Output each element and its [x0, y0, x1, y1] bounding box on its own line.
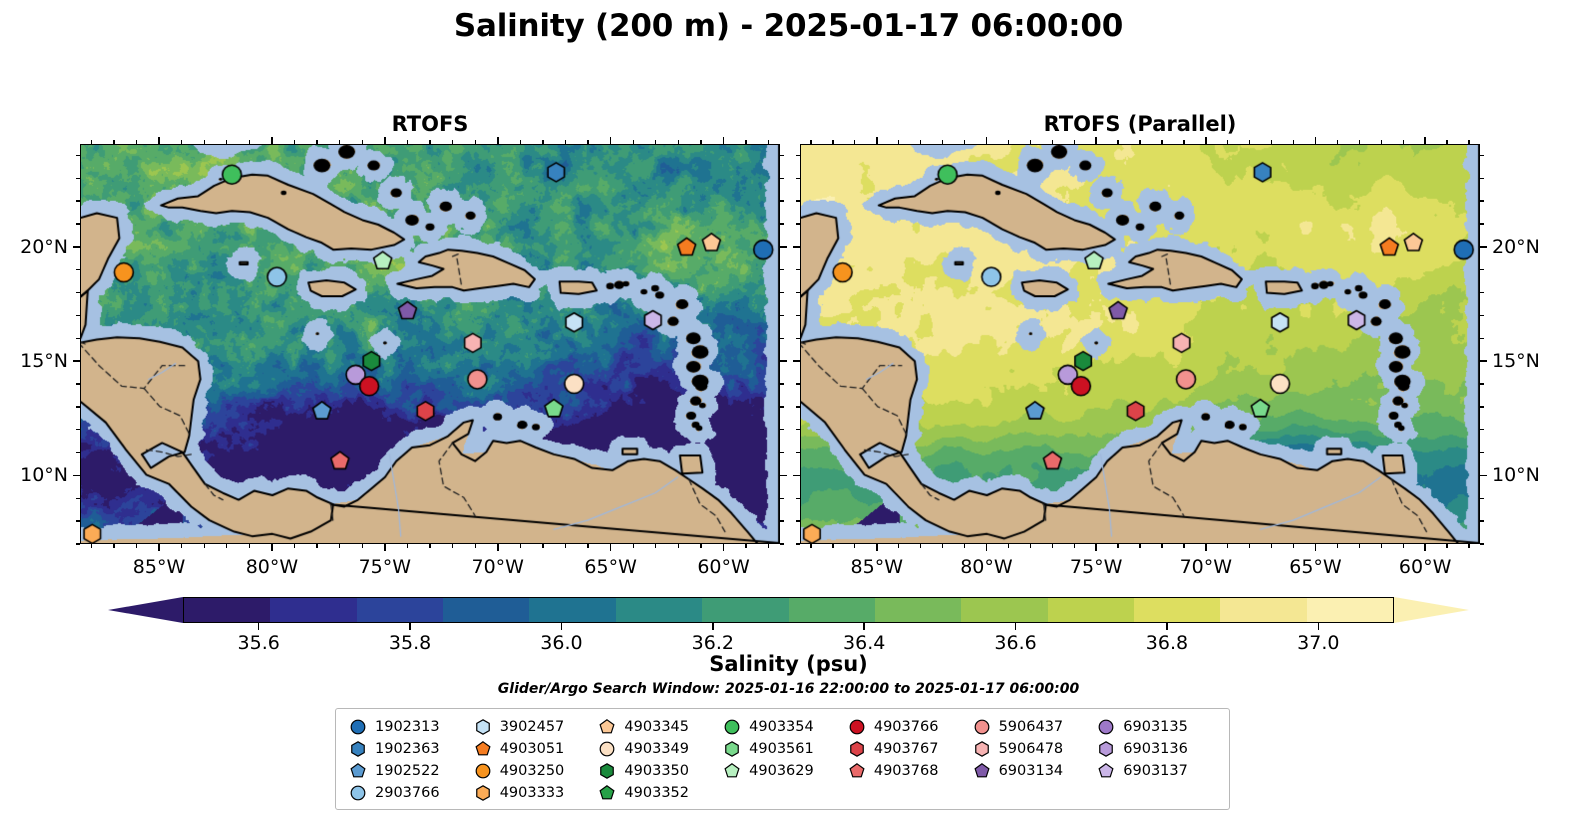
lon-tick	[1139, 544, 1140, 548]
legend-spacer	[970, 782, 1095, 803]
lon-tick-top	[633, 140, 634, 144]
lat-tick-right	[1480, 338, 1484, 339]
lon-tick-top	[1359, 140, 1360, 144]
lat-tick-right	[780, 246, 787, 248]
lon-tick-top	[452, 140, 453, 144]
legend-item-4903349[interactable]: 4903349	[595, 738, 720, 759]
lon-tick-top	[832, 140, 833, 144]
legend-grid: 1902313190236319025222903766390245749030…	[346, 716, 1219, 803]
lat-tick-right	[1480, 543, 1484, 544]
lon-tick	[633, 544, 634, 548]
figure-title: Salinity (200 m) - 2025-01-17 06:00:00	[0, 8, 1577, 44]
marker-pentagon-icon	[1094, 762, 1118, 780]
colorbar-band-0	[184, 598, 270, 622]
legend-item-label: 4903766	[874, 719, 939, 735]
lat-tick-right	[1480, 383, 1484, 384]
lon-tick-top	[1139, 140, 1140, 144]
colorbar-tick-label: 36.0	[540, 632, 582, 654]
legend-item-label: 4903349	[624, 741, 689, 757]
lon-tick	[1227, 544, 1228, 548]
lon-tick-top	[362, 140, 363, 144]
legend-item-label: 5906437	[999, 719, 1064, 735]
lon-tick	[876, 544, 878, 551]
lat-tick-left	[793, 246, 800, 248]
lon-tick-label: 80°W	[960, 556, 1012, 578]
colorbar-tick-label: 36.2	[692, 632, 734, 654]
lat-tick-left	[76, 292, 80, 293]
lon-tick	[475, 544, 476, 548]
lon-tick-top	[610, 137, 612, 144]
lon-tick-top	[876, 137, 878, 144]
colorbar-extend-high	[1394, 597, 1469, 623]
legend-spacer	[720, 782, 845, 803]
lat-tick-left	[796, 520, 800, 521]
lon-tick-top	[1424, 137, 1426, 144]
colorbar-tick-label: 36.4	[843, 632, 885, 654]
lon-tick-top	[1205, 137, 1207, 144]
lon-tick	[429, 544, 430, 548]
marker-pentagon-icon	[471, 740, 495, 758]
lat-tick-left	[76, 223, 80, 224]
lon-tick-top	[136, 140, 137, 144]
marker-hexagon-icon	[471, 718, 495, 736]
lon-tick-top	[942, 140, 943, 144]
legend-item-1902363[interactable]: 1902363	[346, 738, 471, 759]
colorbar-band-12	[1220, 598, 1306, 622]
marker-hexagon-icon	[595, 762, 619, 780]
lat-tick-left	[76, 406, 80, 407]
lat-tick-right	[780, 429, 784, 430]
lon-tick	[113, 544, 114, 548]
lat-tick-label: 10°N	[0, 464, 68, 486]
lat-tick-right	[780, 475, 787, 477]
lon-tick	[407, 544, 408, 548]
colorbar-tick	[409, 623, 411, 630]
lon-tick	[1117, 544, 1118, 548]
lon-tick-top	[384, 137, 386, 144]
lat-tick-right	[1480, 475, 1487, 477]
marker-circle-icon	[346, 718, 370, 736]
lon-tick	[271, 544, 273, 551]
legend-item-label: 6903135	[1123, 719, 1188, 735]
lon-tick-top	[271, 137, 273, 144]
lon-tick-top	[91, 140, 92, 144]
lat-tick-left	[796, 269, 800, 270]
lon-tick	[497, 544, 499, 551]
lat-tick-left	[796, 155, 800, 156]
lon-tick-top	[1183, 140, 1184, 144]
lon-tick	[158, 544, 160, 551]
lon-tick-top	[407, 140, 408, 144]
colorbar-band-7	[789, 598, 875, 622]
lon-tick	[986, 544, 988, 551]
lat-tick-left	[76, 269, 80, 270]
lon-tick	[1205, 544, 1207, 551]
legend-item-2903766[interactable]: 2903766	[346, 782, 471, 803]
legend-item-label: 4903350	[624, 763, 689, 779]
lat-tick-right	[780, 178, 784, 179]
lat-tick-label: 15°N	[1492, 350, 1540, 372]
legend-item-4903561[interactable]: 4903561	[720, 738, 845, 759]
lat-tick-left	[76, 429, 80, 430]
colorbar-tick	[258, 623, 260, 630]
legend-item-label: 6903137	[1123, 763, 1188, 779]
legend-item-4903768[interactable]: 4903768	[845, 760, 970, 781]
lon-tick-top	[1403, 140, 1404, 144]
lon-tick-top	[497, 137, 499, 144]
lat-tick-left	[796, 452, 800, 453]
lon-tick	[542, 544, 543, 548]
lon-tick-label: 70°W	[472, 556, 524, 578]
lon-tick-top	[542, 140, 543, 144]
colorbar-band-9	[961, 598, 1047, 622]
legend-item-label: 2903766	[375, 785, 440, 801]
colorbar-band-8	[875, 598, 961, 622]
lon-tick	[898, 544, 899, 548]
lon-tick-label: 75°W	[359, 556, 411, 578]
lon-tick	[1183, 544, 1184, 548]
lon-tick	[745, 544, 746, 548]
lon-tick	[452, 544, 453, 548]
search-window-text: Glider/Argo Search Window: 2025-01-16 22…	[0, 681, 1577, 697]
legend-item-5906478[interactable]: 5906478	[970, 738, 1095, 759]
lon-tick-top	[1271, 140, 1272, 144]
lat-tick-left	[793, 475, 800, 477]
legend-item-label: 4903345	[624, 719, 689, 735]
lon-tick-top	[854, 140, 855, 144]
lat-tick-right	[1480, 246, 1487, 248]
lon-tick	[610, 544, 612, 551]
lat-tick-left	[76, 520, 80, 521]
lon-tick	[204, 544, 205, 548]
legend-item-label: 4903354	[749, 719, 814, 735]
legend-item-label: 4903768	[874, 763, 939, 779]
colorbar-band-13	[1307, 598, 1393, 622]
lat-tick-left	[796, 223, 800, 224]
lon-tick	[339, 544, 340, 548]
colorbar-tick-label: 35.8	[389, 632, 431, 654]
colorbar-tick	[712, 623, 714, 630]
lon-tick-label: 80°W	[246, 556, 298, 578]
lat-tick-left	[76, 498, 80, 499]
lat-tick-right	[780, 155, 784, 156]
colorbar-band-11	[1134, 598, 1220, 622]
lat-tick-left	[796, 178, 800, 179]
lon-tick	[226, 544, 227, 548]
lat-tick-label: 20°N	[1492, 236, 1540, 258]
colorbar[interactable]: 35.635.836.036.236.436.636.837.0	[107, 597, 1470, 623]
marker-hexagon-icon	[346, 740, 370, 758]
lon-tick	[1446, 544, 1447, 548]
lat-tick-left	[796, 429, 800, 430]
lat-tick-left	[76, 543, 80, 544]
lon-tick-top	[1381, 140, 1382, 144]
lat-tick-right	[1480, 315, 1484, 316]
lat-tick-left	[76, 338, 80, 339]
colorbar-tick	[1166, 623, 1168, 630]
colorbar-tick	[561, 623, 563, 630]
lon-tick	[1315, 544, 1317, 551]
legend-item-6903136[interactable]: 6903136	[1094, 738, 1219, 759]
legend-item-label: 4903629	[749, 763, 814, 779]
lon-tick	[316, 544, 317, 548]
legend-item-label: 6903136	[1123, 741, 1188, 757]
marker-circle-icon	[720, 718, 744, 736]
legend-item-label: 3902457	[500, 719, 565, 735]
lon-tick	[587, 544, 588, 548]
legend-item-label: 4903333	[500, 785, 565, 801]
lon-tick-label: 65°W	[1289, 556, 1341, 578]
lon-tick-top	[475, 140, 476, 144]
lon-tick	[832, 544, 833, 548]
legend-item-label: 6903134	[999, 763, 1064, 779]
lon-tick	[181, 544, 182, 548]
panel-title-rtofs-parallel: RTOFS (Parallel)	[800, 112, 1480, 136]
lat-tick-left	[796, 406, 800, 407]
lon-tick-top	[429, 140, 430, 144]
lon-tick	[1074, 544, 1075, 548]
lon-tick-top	[204, 140, 205, 144]
lat-tick-right	[1480, 360, 1487, 362]
legend-spacer	[1094, 782, 1219, 803]
lat-tick-left	[793, 360, 800, 362]
lat-tick-right	[780, 383, 784, 384]
map-panel-rtofs[interactable]	[80, 144, 780, 544]
legend-item-4903051[interactable]: 4903051	[471, 738, 596, 759]
lon-tick-top	[1161, 140, 1162, 144]
colorbar-band-5	[616, 598, 702, 622]
lat-tick-left	[796, 383, 800, 384]
colorbar-band-3	[443, 598, 529, 622]
lon-tick-top	[1315, 137, 1317, 144]
lon-tick-label: 60°W	[697, 556, 749, 578]
legend-item-4903352[interactable]: 4903352	[595, 782, 720, 803]
lon-tick-top	[181, 140, 182, 144]
legend-item-3902457[interactable]: 3902457	[471, 716, 596, 737]
marker-hexagon-icon	[720, 740, 744, 758]
lon-tick	[1293, 544, 1294, 548]
lon-tick	[1052, 544, 1053, 548]
colorbar-tick	[1318, 623, 1320, 630]
legend-item-label: 1902363	[375, 741, 440, 757]
lon-tick-label: 75°W	[1070, 556, 1122, 578]
lon-tick	[810, 544, 811, 548]
lat-tick-left	[73, 360, 80, 362]
lat-tick-right	[1480, 520, 1484, 521]
marker-circle-icon	[471, 762, 495, 780]
legend-item-4903629[interactable]: 4903629	[720, 760, 845, 781]
lat-tick-right	[780, 543, 784, 544]
lat-tick-right	[780, 498, 784, 499]
lon-tick	[1468, 544, 1469, 548]
lon-tick-top	[1095, 137, 1097, 144]
lon-tick	[942, 544, 943, 548]
lon-tick-top	[723, 137, 725, 144]
lon-tick-top	[158, 137, 160, 144]
legend-item-1902313[interactable]: 1902313	[346, 716, 471, 737]
colorbar-band-6	[702, 598, 788, 622]
lon-tick	[1359, 544, 1360, 548]
legend-item-6903134[interactable]: 6903134	[970, 760, 1095, 781]
legend-item-4903345[interactable]: 4903345	[595, 716, 720, 737]
lat-tick-right	[780, 338, 784, 339]
lon-tick-top	[810, 140, 811, 144]
legend-item-label: 4903352	[624, 785, 689, 801]
lat-tick-right	[1480, 155, 1484, 156]
legend-item-label: 4903767	[874, 741, 939, 757]
lat-tick-right	[1480, 200, 1484, 201]
lat-tick-left	[76, 315, 80, 316]
lon-tick	[565, 544, 566, 548]
lat-tick-left	[796, 315, 800, 316]
legend-item-label: 4903561	[749, 741, 814, 757]
marker-hexagon-icon	[970, 740, 994, 758]
lon-tick-top	[1074, 140, 1075, 144]
lon-tick-top	[1227, 140, 1228, 144]
lon-tick-top	[249, 140, 250, 144]
lon-tick	[1161, 544, 1162, 548]
lon-tick-top	[1008, 140, 1009, 144]
map-panel-rtofs-parallel[interactable]	[800, 144, 1480, 544]
salinity-field-rtofs	[81, 145, 779, 543]
lon-tick	[1008, 544, 1009, 548]
lon-tick-top	[316, 140, 317, 144]
marker-circle-icon	[595, 740, 619, 758]
legend-item-4903250[interactable]: 4903250	[471, 760, 596, 781]
legend-item-4903766[interactable]: 4903766	[845, 716, 970, 737]
legend-item-4903350[interactable]: 4903350	[595, 760, 720, 781]
lat-tick-right	[1480, 406, 1484, 407]
salinity-field-rtofs-parallel	[801, 145, 1479, 543]
lat-tick-right	[780, 223, 784, 224]
colorbar-band-10	[1048, 598, 1134, 622]
colorbar-extend-low	[108, 597, 183, 623]
lon-tick-top	[1468, 140, 1469, 144]
lon-tick	[1030, 544, 1031, 548]
lon-tick-label: 85°W	[851, 556, 903, 578]
lon-tick-top	[1052, 140, 1053, 144]
lon-tick-top	[678, 140, 679, 144]
lon-tick	[1271, 544, 1272, 548]
marker-circle-icon	[1094, 718, 1118, 736]
lat-tick-right	[780, 315, 784, 316]
marker-pentagon-icon	[595, 718, 619, 736]
lon-tick	[294, 544, 295, 548]
legend-item-label: 1902522	[375, 763, 440, 779]
lat-tick-left	[76, 452, 80, 453]
legend-item-4903333[interactable]: 4903333	[471, 782, 596, 803]
lon-tick-top	[1337, 140, 1338, 144]
lat-tick-left	[796, 498, 800, 499]
lon-tick-label: 65°W	[584, 556, 636, 578]
legend-item-4903354[interactable]: 4903354	[720, 716, 845, 737]
lon-tick-top	[768, 140, 769, 144]
marker-circle-icon	[346, 784, 370, 802]
lat-tick-label: 15°N	[0, 350, 68, 372]
marker-circle-icon	[970, 718, 994, 736]
lat-tick-label: 10°N	[1492, 464, 1540, 486]
lat-tick-right	[1480, 452, 1484, 453]
legend-item-1902522[interactable]: 1902522	[346, 760, 471, 781]
colorbar-tick-label: 35.6	[238, 632, 280, 654]
lon-tick-top	[700, 140, 701, 144]
legend-item-label: 4903051	[500, 741, 565, 757]
lon-tick	[1095, 544, 1097, 551]
lon-tick-top	[226, 140, 227, 144]
lon-tick	[723, 544, 725, 551]
lat-tick-right	[780, 292, 784, 293]
lat-tick-left	[76, 200, 80, 201]
colorbar-label: Salinity (psu)	[0, 652, 1577, 676]
lon-tick-top	[655, 140, 656, 144]
lat-tick-right	[780, 269, 784, 270]
lat-tick-right	[780, 520, 784, 521]
lon-tick	[1381, 544, 1382, 548]
lon-tick	[1249, 544, 1250, 548]
lon-tick	[768, 544, 769, 548]
lat-tick-right	[780, 360, 787, 362]
lat-tick-right	[1480, 292, 1484, 293]
marker-pentagon-icon	[346, 762, 370, 780]
lat-tick-left	[796, 338, 800, 339]
colorbar-band-2	[357, 598, 443, 622]
lon-tick	[678, 544, 679, 548]
colorbar-tick-label: 37.0	[1297, 632, 1339, 654]
lon-tick-label: 60°W	[1399, 556, 1451, 578]
float-legend[interactable]: 1902313190236319025222903766390245749030…	[335, 708, 1230, 810]
colorbar-tick-label: 36.6	[994, 632, 1036, 654]
legend-item-6903137[interactable]: 6903137	[1094, 760, 1219, 781]
lon-tick	[1424, 544, 1426, 551]
lon-tick	[362, 544, 363, 548]
lon-tick-top	[1117, 140, 1118, 144]
lon-tick	[136, 544, 137, 548]
marker-pentagon-icon	[970, 762, 994, 780]
lon-tick-top	[986, 137, 988, 144]
lon-tick	[520, 544, 521, 548]
lat-tick-right	[780, 200, 784, 201]
lon-tick-top	[1030, 140, 1031, 144]
lon-tick	[655, 544, 656, 548]
lon-tick-top	[565, 140, 566, 144]
lon-tick-top	[964, 140, 965, 144]
lon-tick	[91, 544, 92, 548]
lat-tick-left	[73, 246, 80, 248]
lat-tick-left	[73, 475, 80, 477]
legend-item-5906437[interactable]: 5906437	[970, 716, 1095, 737]
lat-tick-left	[76, 178, 80, 179]
lon-tick-top	[294, 140, 295, 144]
lon-tick-top	[920, 140, 921, 144]
lat-tick-left	[76, 155, 80, 156]
marker-pentagon-icon	[720, 762, 744, 780]
lon-tick	[964, 544, 965, 548]
colorbar-band-1	[270, 598, 356, 622]
lon-tick-label: 70°W	[1180, 556, 1232, 578]
lat-tick-left	[796, 200, 800, 201]
lon-tick-top	[587, 140, 588, 144]
lon-tick-top	[745, 140, 746, 144]
lon-tick-top	[898, 140, 899, 144]
colorbar-tick	[1015, 623, 1017, 630]
lat-tick-label: 20°N	[0, 236, 68, 258]
lon-tick-top	[113, 140, 114, 144]
legend-item-4903767[interactable]: 4903767	[845, 738, 970, 759]
legend-item-6903135[interactable]: 6903135	[1094, 716, 1219, 737]
lat-tick-left	[76, 383, 80, 384]
marker-pentagon-icon	[595, 784, 619, 802]
marker-hexagon-icon	[845, 740, 869, 758]
